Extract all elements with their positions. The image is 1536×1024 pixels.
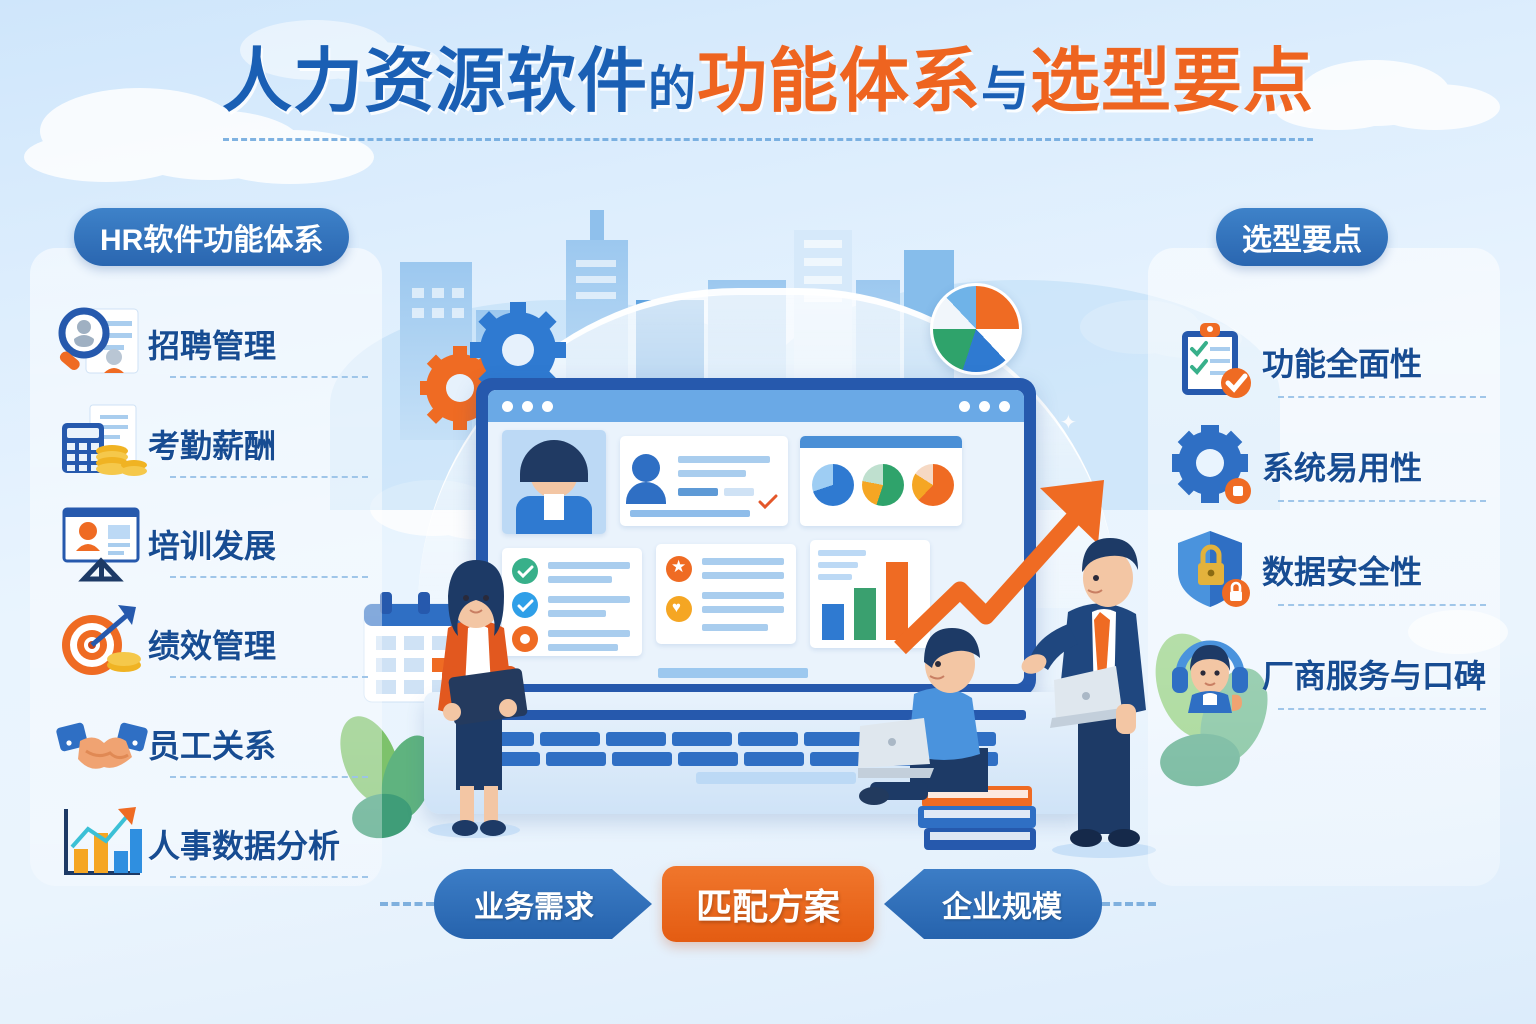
item-divider xyxy=(170,776,368,778)
right-panel-header: 选型要点 xyxy=(1216,208,1388,266)
title-part-5: 选型要点 xyxy=(1030,42,1314,120)
right-panel: 选型要点 功能全面性 xyxy=(1148,248,1500,886)
list-item-label: 培训发展 xyxy=(148,521,276,567)
calculator-coins-icon xyxy=(56,403,148,485)
list-item[interactable]: 功能全面性 xyxy=(1148,310,1500,414)
flow-right-arrow[interactable]: 企业规模 xyxy=(884,869,1102,939)
list-item-label: 厂商服务与口碑 xyxy=(1262,651,1486,697)
list-item[interactable]: 考勤薪酬 xyxy=(30,394,382,494)
page-title: 人力资源软件的功能体系与选型要点 xyxy=(0,46,1536,141)
left-panel-items: 招聘管理 xyxy=(30,294,382,894)
right-panel-items: 功能全面性 xyxy=(1148,310,1500,726)
bottom-flow-bar: 业务需求 匹配方案 企业规模 xyxy=(0,862,1536,946)
list-item-label: 招聘管理 xyxy=(148,321,276,367)
shield-lock-icon xyxy=(1170,529,1262,611)
title-part-1: 人力资源软件 xyxy=(222,42,648,120)
heart-icon: ♥ xyxy=(672,599,681,616)
left-panel: HR软件功能体系 招聘管理 xyxy=(30,248,382,886)
window-dots-right xyxy=(959,401,1010,412)
window-titlebar xyxy=(488,390,1024,422)
item-divider xyxy=(1278,708,1486,710)
flow-centre-label: 匹配方案 xyxy=(696,878,840,930)
item-divider xyxy=(170,576,368,578)
list-item-label: 功能全面性 xyxy=(1262,339,1422,385)
handshake-icon xyxy=(56,703,148,785)
item-divider xyxy=(170,376,368,378)
target-dart-coin-icon xyxy=(56,603,148,685)
item-divider xyxy=(1278,500,1486,502)
flow-left-label: 业务需求 xyxy=(474,882,594,926)
list-item-label: 系统易用性 xyxy=(1262,443,1422,489)
item-divider xyxy=(1278,604,1486,606)
flow-left-arrow[interactable]: 业务需求 xyxy=(434,869,652,939)
employee-profile-card xyxy=(620,436,788,526)
left-panel-header: HR软件功能体系 xyxy=(74,208,349,266)
list-item-label: 考勤薪酬 xyxy=(148,421,276,467)
central-illustration: ★ ♥ xyxy=(380,300,1120,900)
flow-right-label: 企业规模 xyxy=(942,882,1062,926)
title-part-2: 的 xyxy=(648,63,697,116)
list-item-label: 数据安全性 xyxy=(1262,547,1422,593)
list-item[interactable]: 厂商服务与口碑 xyxy=(1148,622,1500,726)
item-divider xyxy=(170,476,368,478)
woman-with-tablet-illustration xyxy=(408,538,548,838)
rating-list-card: ★ ♥ xyxy=(656,544,796,644)
clipboard-check-icon xyxy=(1170,321,1262,403)
list-item[interactable]: 绩效管理 xyxy=(30,594,382,694)
flow-dash-right xyxy=(1102,902,1156,906)
star-icon: ★ xyxy=(671,557,686,577)
list-item[interactable]: 培训发展 xyxy=(30,494,382,594)
employee-photo-card xyxy=(502,430,606,534)
list-item[interactable]: 员工关系 xyxy=(30,694,382,794)
list-item-label: 绩效管理 xyxy=(148,621,276,667)
headset-support-icon xyxy=(1170,633,1262,715)
title-part-4: 与 xyxy=(981,63,1030,116)
gear-settings-icon xyxy=(1170,425,1262,507)
list-item[interactable]: 招聘管理 xyxy=(30,294,382,394)
title-part-3: 功能体系 xyxy=(697,42,981,120)
flow-centre-chip[interactable]: 匹配方案 xyxy=(662,866,874,942)
list-item[interactable]: 系统易用性 xyxy=(1148,414,1500,518)
item-divider xyxy=(1278,396,1486,398)
title-divider xyxy=(223,138,1313,141)
whiteboard-presenter-icon xyxy=(56,503,148,585)
window-dots-left xyxy=(502,401,553,412)
magnifier-resume-icon xyxy=(56,303,148,385)
list-item-label: 人事数据分析 xyxy=(148,821,340,867)
item-divider xyxy=(170,676,368,678)
list-item[interactable]: 数据安全性 xyxy=(1148,518,1500,622)
check-icon xyxy=(758,494,778,510)
list-item-label: 员工关系 xyxy=(148,721,276,767)
flow-dash-left xyxy=(380,902,434,906)
